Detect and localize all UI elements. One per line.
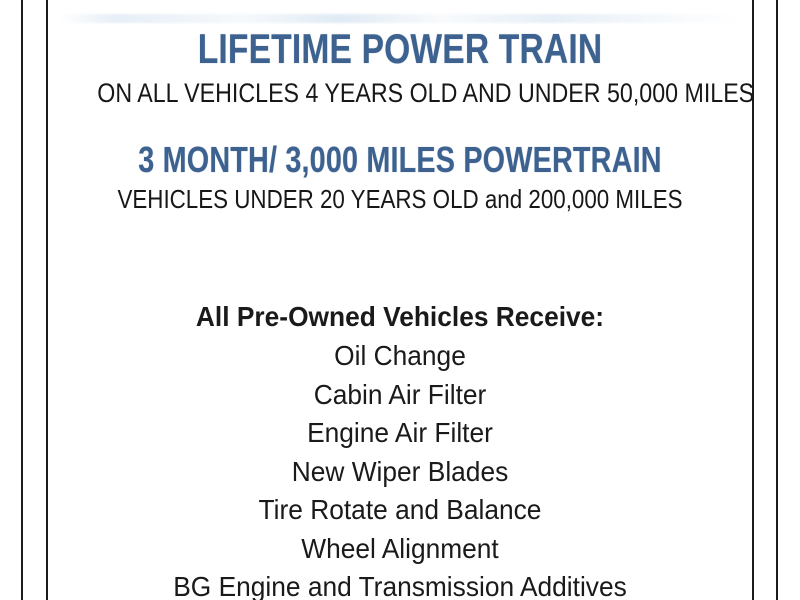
frame-rule-right-outer — [776, 0, 778, 600]
offer-subhead-3-month-powertrain: VEHICLES UNDER 20 YEARS OLD and 200,000 … — [97, 186, 702, 212]
services-list: Oil Change Cabin Air Filter Engine Air F… — [48, 337, 752, 600]
list-item: Wheel Alignment — [69, 530, 731, 569]
list-item: Oil Change — [69, 337, 731, 376]
offer-headline-lifetime-power-train: LIFETIME POWER TRAIN — [118, 28, 681, 70]
flyer-page: LIFETIME POWER TRAIN ON ALL VEHICLES 4 Y… — [0, 0, 800, 600]
list-item: Cabin Air Filter — [69, 376, 731, 415]
list-item: New Wiper Blades — [69, 453, 731, 492]
offer-headline-3-month-powertrain: 3 MONTH/ 3,000 MILES POWERTRAIN — [118, 142, 681, 178]
flyer-content: LIFETIME POWER TRAIN ON ALL VEHICLES 4 Y… — [48, 0, 752, 600]
list-item: BG Engine and Transmission Additives — [69, 568, 731, 600]
list-item: Engine Air Filter — [69, 414, 731, 453]
offer-subhead-lifetime-power-train: ON ALL VEHICLES 4 YEARS OLD AND UNDER 50… — [97, 80, 702, 107]
list-item: Tire Rotate and Balance — [69, 491, 731, 530]
services-title: All Pre-Owned Vehicles Receive: — [69, 298, 731, 335]
frame-rule-left-outer — [21, 0, 23, 600]
services-block: All Pre-Owned Vehicles Receive: Oil Chan… — [48, 298, 752, 600]
